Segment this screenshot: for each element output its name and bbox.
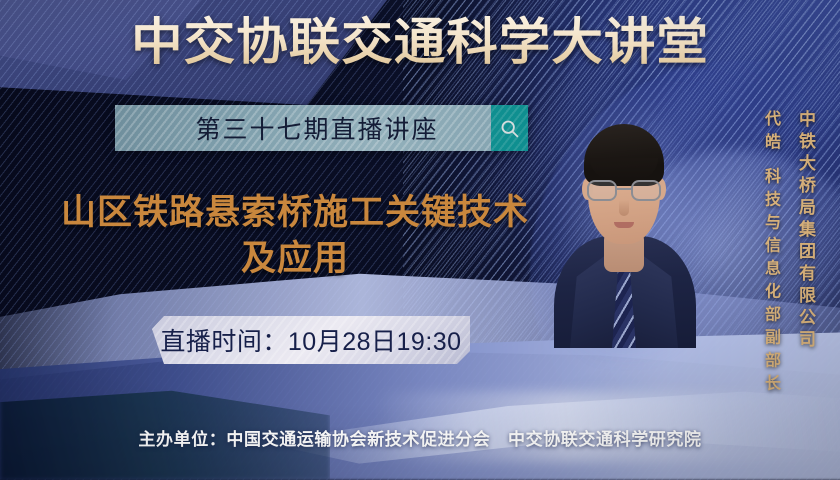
portrait-lens-left bbox=[587, 180, 617, 201]
session-bar: 第三十七期直播讲座 bbox=[115, 105, 528, 151]
topic-line-1: 山区铁路悬索桥施工关键技术 bbox=[30, 190, 560, 236]
session-label: 第三十七期直播讲座 bbox=[167, 110, 438, 146]
portrait-glasses-bridge bbox=[617, 188, 631, 190]
portrait-lens-right bbox=[631, 180, 661, 201]
portrait-mouth bbox=[614, 222, 634, 228]
livestream-poster: 中交协联交通科学大讲堂 第三十七期直播讲座 山区铁路悬索桥施工关键技术 及应用 … bbox=[0, 0, 840, 480]
topic-title: 山区铁路悬索桥施工关键技术 及应用 bbox=[30, 190, 560, 282]
speaker-portrait bbox=[548, 104, 700, 348]
speaker-organization: 中铁大桥局集团有限公司 bbox=[793, 110, 818, 352]
portrait-nose bbox=[619, 200, 629, 216]
topic-line-2: 及应用 bbox=[30, 236, 560, 282]
livestream-time-text: 直播时间：10月28日19:30 bbox=[160, 322, 461, 358]
speaker-name-and-title: 代皓 科技与信息化部副部长 bbox=[758, 110, 782, 397]
livestream-time-banner: 直播时间：10月28日19:30 bbox=[152, 316, 470, 364]
organizer-footer: 主办单位：中国交通运输协会新技术促进分会 中交协联交通科学研究院 bbox=[0, 425, 840, 450]
page-title: 中交协联交通科学大讲堂 bbox=[0, 12, 840, 72]
session-bar-body: 第三十七期直播讲座 bbox=[115, 105, 491, 151]
portrait-glasses bbox=[585, 180, 663, 202]
